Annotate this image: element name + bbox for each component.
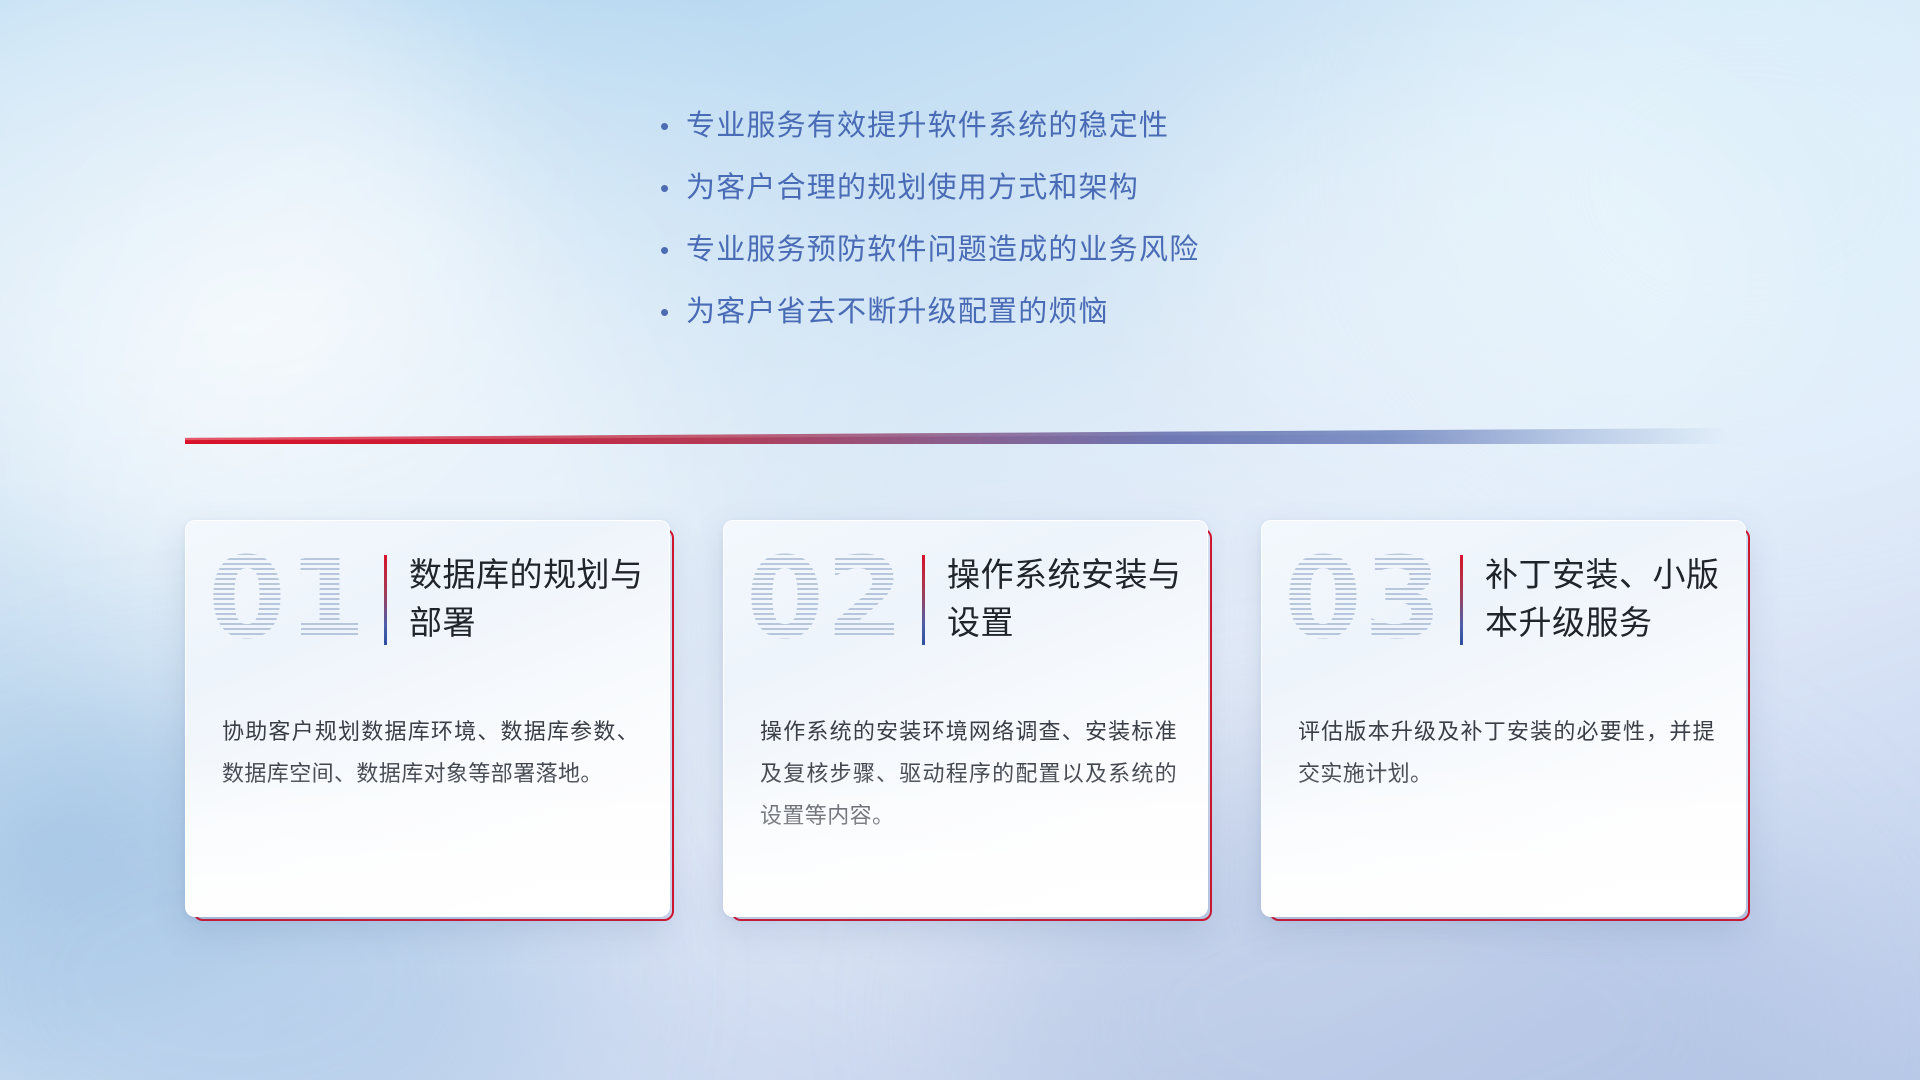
section-divider — [185, 428, 1730, 444]
card-accent-bar — [922, 555, 925, 645]
card-accent-bar — [1460, 555, 1463, 645]
bullet-dot-icon: • — [660, 104, 686, 148]
list-item: • 为客户合理的规划使用方式和架构 — [660, 166, 1480, 210]
service-card[interactable]: 01 数据库的规划与部署 协助客户规划数据库环境、数据库参数、数据库空间、数据库… — [185, 520, 668, 915]
card-title: 操作系统安装与设置 — [947, 551, 1208, 647]
service-card[interactable]: 03 补丁安装、小版本升级服务 评估版本升级及补丁安装的必要性，并提交实施计划。 — [1261, 520, 1744, 915]
background-glow-1 — [0, 0, 460, 500]
benefits-bullet-list: • 专业服务有效提升软件系统的稳定性 • 为客户合理的规划使用方式和架构 • 专… — [660, 104, 1480, 352]
bullet-text: 为客户省去不断升级配置的烦恼 — [686, 290, 1109, 334]
card-number-watermark: 01 — [208, 543, 368, 655]
bullet-dot-icon: • — [660, 228, 686, 272]
slide-canvas: • 专业服务有效提升软件系统的稳定性 • 为客户合理的规划使用方式和架构 • 专… — [0, 0, 1920, 1080]
bullet-text: 专业服务预防软件问题造成的业务风险 — [686, 228, 1199, 272]
card-title: 数据库的规划与部署 — [409, 551, 670, 647]
card-title: 补丁安装、小版本升级服务 — [1485, 551, 1746, 647]
card-title-wrap: 补丁安装、小版本升级服务 — [1460, 551, 1746, 647]
list-item: • 专业服务有效提升软件系统的稳定性 — [660, 104, 1480, 148]
card-panel: 03 补丁安装、小版本升级服务 评估版本升级及补丁安装的必要性，并提交实施计划。 — [1261, 520, 1746, 917]
bullet-text: 为客户合理的规划使用方式和架构 — [686, 166, 1139, 210]
service-card[interactable]: 02 操作系统安装与设置 操作系统的安装环境网络调查、安装标准及复核步骤、驱动程… — [723, 520, 1206, 915]
card-title-wrap: 操作系统安装与设置 — [922, 551, 1208, 647]
service-card-group: 01 数据库的规划与部署 协助客户规划数据库环境、数据库参数、数据库空间、数据库… — [185, 520, 1745, 915]
card-number-watermark: 02 — [746, 543, 906, 655]
background-glow-3 — [1440, 0, 1920, 440]
card-panel: 02 操作系统安装与设置 操作系统的安装环境网络调查、安装标准及复核步骤、驱动程… — [723, 520, 1208, 917]
card-body-text: 协助客户规划数据库环境、数据库参数、数据库空间、数据库对象等部署落地。 — [222, 711, 639, 795]
list-item: • 专业服务预防软件问题造成的业务风险 — [660, 228, 1480, 272]
card-title-wrap: 数据库的规划与部署 — [384, 551, 670, 647]
bullet-text: 专业服务有效提升软件系统的稳定性 — [686, 104, 1169, 148]
bullet-dot-icon: • — [660, 166, 686, 210]
card-number-watermark: 03 — [1284, 543, 1444, 655]
bullet-dot-icon: • — [660, 290, 686, 334]
card-accent-bar — [384, 555, 387, 645]
card-body-text: 操作系统的安装环境网络调查、安装标准及复核步骤、驱动程序的配置以及系统的设置等内… — [760, 711, 1177, 837]
card-panel: 01 数据库的规划与部署 协助客户规划数据库环境、数据库参数、数据库空间、数据库… — [185, 520, 670, 917]
card-body-text: 评估版本升级及补丁安装的必要性，并提交实施计划。 — [1298, 711, 1715, 795]
list-item: • 为客户省去不断升级配置的烦恼 — [660, 290, 1480, 334]
